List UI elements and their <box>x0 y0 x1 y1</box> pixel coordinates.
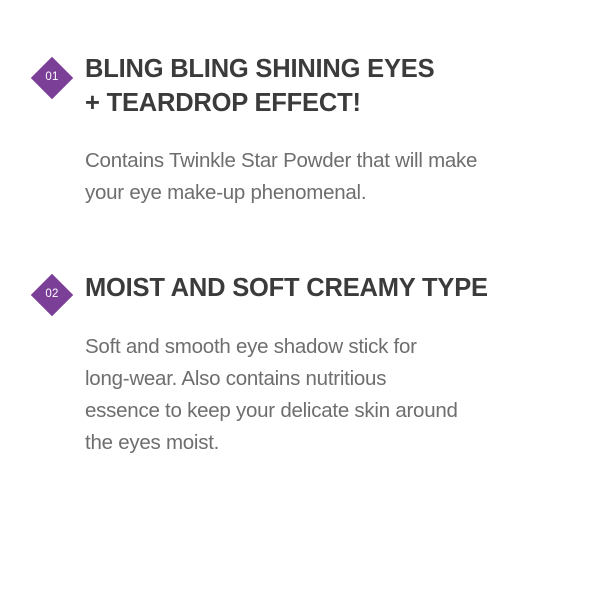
feature-heading-01: BLING BLING SHINING EYES + TEARDROP EFFE… <box>85 52 570 120</box>
feature-heading-01-line-1: BLING BLING SHINING EYES <box>85 52 570 86</box>
feature-list: 01 BLING BLING SHINING EYES + TEARDROP E… <box>0 52 600 459</box>
product-feature-page: 01 BLING BLING SHINING EYES + TEARDROP E… <box>0 0 600 606</box>
feature-body-02-line-3: essence to keep your delicate skin aroun… <box>85 395 570 427</box>
feature-body-01-line-2: your eye make-up phenomenal. <box>85 177 570 209</box>
feature-body-01: Contains Twinkle Star Powder that will m… <box>85 120 570 209</box>
feature-body-02: Soft and smooth eye shadow stick for lon… <box>85 305 570 459</box>
badge-number-02: 02 <box>37 280 67 310</box>
feature-block-02: 02 MOIST AND SOFT CREAMY TYPE Soft and s… <box>0 271 600 459</box>
feature-heading-01-line-2: + TEARDROP EFFECT! <box>85 86 570 120</box>
feature-block-01: 01 BLING BLING SHINING EYES + TEARDROP E… <box>0 52 600 209</box>
feature-body-02-line-1: Soft and smooth eye shadow stick for <box>85 331 570 363</box>
badge-number-01: 01 <box>37 63 67 93</box>
feature-body-02-line-4: the eyes moist. <box>85 427 570 459</box>
feature-body-02-line-2: long-wear. Also contains nutritious <box>85 363 570 395</box>
feature-body-01-line-1: Contains Twinkle Star Powder that will m… <box>85 145 570 177</box>
feature-heading-02-line-1: MOIST AND SOFT CREAMY TYPE <box>85 271 570 305</box>
feature-heading-02: MOIST AND SOFT CREAMY TYPE <box>85 271 570 305</box>
